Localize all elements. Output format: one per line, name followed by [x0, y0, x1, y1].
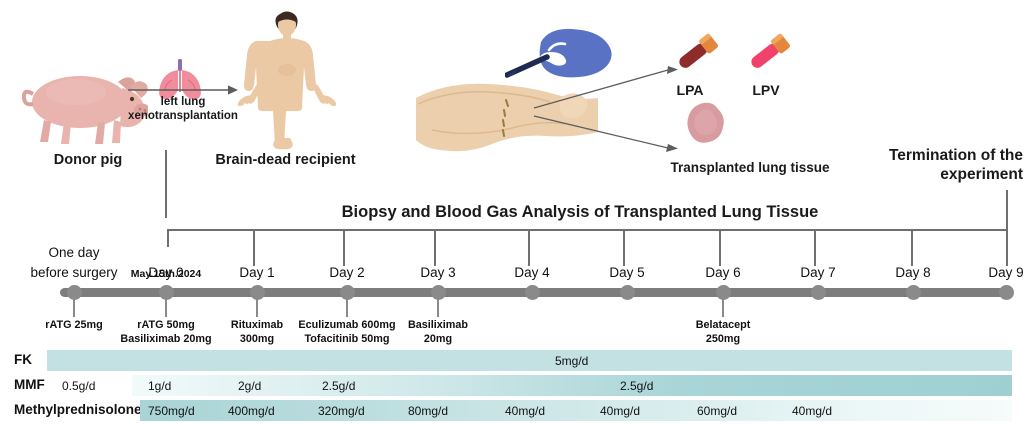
- fk-dose-bar: [47, 350, 1012, 371]
- termination-line-1: Termination of the: [845, 146, 1023, 165]
- donor-pig-label: Donor pig: [28, 152, 148, 168]
- xenotransplantation-label: left lung xenotransplantation: [128, 95, 238, 124]
- mp-dose-value-3: 80mg/d: [408, 404, 448, 418]
- bracket-tick-day0: [167, 229, 169, 247]
- bracket-tick-day3: [434, 229, 436, 266]
- brain-dead-recipient-label: Brain-dead recipient: [178, 152, 393, 168]
- timeline-drug-label-7: Belatacept250mg: [661, 318, 785, 346]
- timeline-day-label-10: Day 9: [944, 265, 1023, 280]
- timeline-drug-stem-0: [73, 297, 75, 317]
- lpv-label: LPV: [735, 82, 797, 98]
- row-label-methylprednisolone: Methylprednisolone: [14, 402, 142, 417]
- drug-line-0: Belatacept: [661, 318, 785, 332]
- drug-line-1: 250mg: [661, 332, 785, 346]
- mp-dose-value-4: 40mg/d: [505, 404, 545, 418]
- analysis-title: Biopsy and Blood Gas Analysis of Transpl…: [300, 203, 860, 222]
- timeline-drug-stem-7: [722, 297, 724, 317]
- timeline-drug-stem-3: [346, 297, 348, 317]
- bracket-tick-day4: [528, 229, 530, 266]
- brain-dead-recipient-illustration: [228, 8, 346, 150]
- mp-dose-value-0: 750mg/d: [148, 404, 195, 418]
- timeline-drug-stem-1: [165, 297, 167, 317]
- mmf-dose-value-2: 2g/d: [238, 379, 261, 393]
- drug-line-1: 20mg: [376, 332, 500, 346]
- mmf-dose-value-1: 1g/d: [148, 379, 171, 393]
- day-label-line-1: One day: [12, 245, 136, 260]
- mp-dose-value-6: 60mg/d: [697, 404, 737, 418]
- bracket-tick-day5: [623, 229, 625, 266]
- bracket-tick-day6: [719, 229, 721, 266]
- lpv-blood-tube-icon: [744, 28, 796, 76]
- timeline-node-5[interactable]: [525, 285, 540, 300]
- transplanted-tissue-icon: [684, 100, 728, 148]
- lpa-label: LPA: [660, 82, 720, 98]
- timeline-node-6[interactable]: [620, 285, 635, 300]
- timeline-drug-stem-2: [256, 297, 258, 317]
- mp-dose-value-5: 40mg/d: [600, 404, 640, 418]
- mp-dose-value-2: 320mg/d: [318, 404, 365, 418]
- mmf-dose-bar: [132, 375, 1012, 396]
- xeno-line-2: xenotransplantation: [128, 109, 238, 123]
- mmf-dose-value-0: 0.5g/d: [62, 379, 95, 393]
- timeline-drug-stem-4: [437, 297, 439, 317]
- mmf-dose-value-3: 2.5g/d: [322, 379, 355, 393]
- day-label-line-1: Day 9: [944, 265, 1023, 280]
- fk-dose-value: 5mg/d: [555, 354, 588, 368]
- bracket-tick-day2: [343, 229, 345, 266]
- timeline-node-9[interactable]: [906, 285, 921, 300]
- drug-line-0: Basiliximab: [376, 318, 500, 332]
- xeno-line-1: left lung: [128, 95, 238, 109]
- transplanted-tissue-label: Transplanted lung tissue: [620, 160, 880, 175]
- termination-label: Termination of the experiment: [845, 146, 1023, 185]
- row-label-fk: FK: [14, 352, 32, 367]
- specimen-arrows-icon: [496, 62, 706, 158]
- lpa-blood-tube-icon: [672, 28, 724, 76]
- bracket-tick-day8: [911, 229, 913, 266]
- termination-line-2: experiment: [845, 165, 1023, 184]
- timeline-node-10[interactable]: [999, 285, 1014, 300]
- mp-dose-value-1: 400mg/d: [228, 404, 275, 418]
- mp-dose-value-7: 40mg/d: [792, 404, 832, 418]
- bracket-tick-day1: [253, 229, 255, 266]
- bracket-tick-day9: [1006, 229, 1008, 266]
- timeline-node-8[interactable]: [811, 285, 826, 300]
- row-label-mmf: MMF: [14, 377, 45, 392]
- transplant-connector-line: [165, 150, 167, 218]
- timeline-drug-label-4: Basiliximab20mg: [376, 318, 500, 346]
- analysis-bracket-line: [167, 229, 1007, 231]
- bracket-tick-day7: [814, 229, 816, 266]
- mmf-dose-value-4: 2.5g/d: [620, 379, 653, 393]
